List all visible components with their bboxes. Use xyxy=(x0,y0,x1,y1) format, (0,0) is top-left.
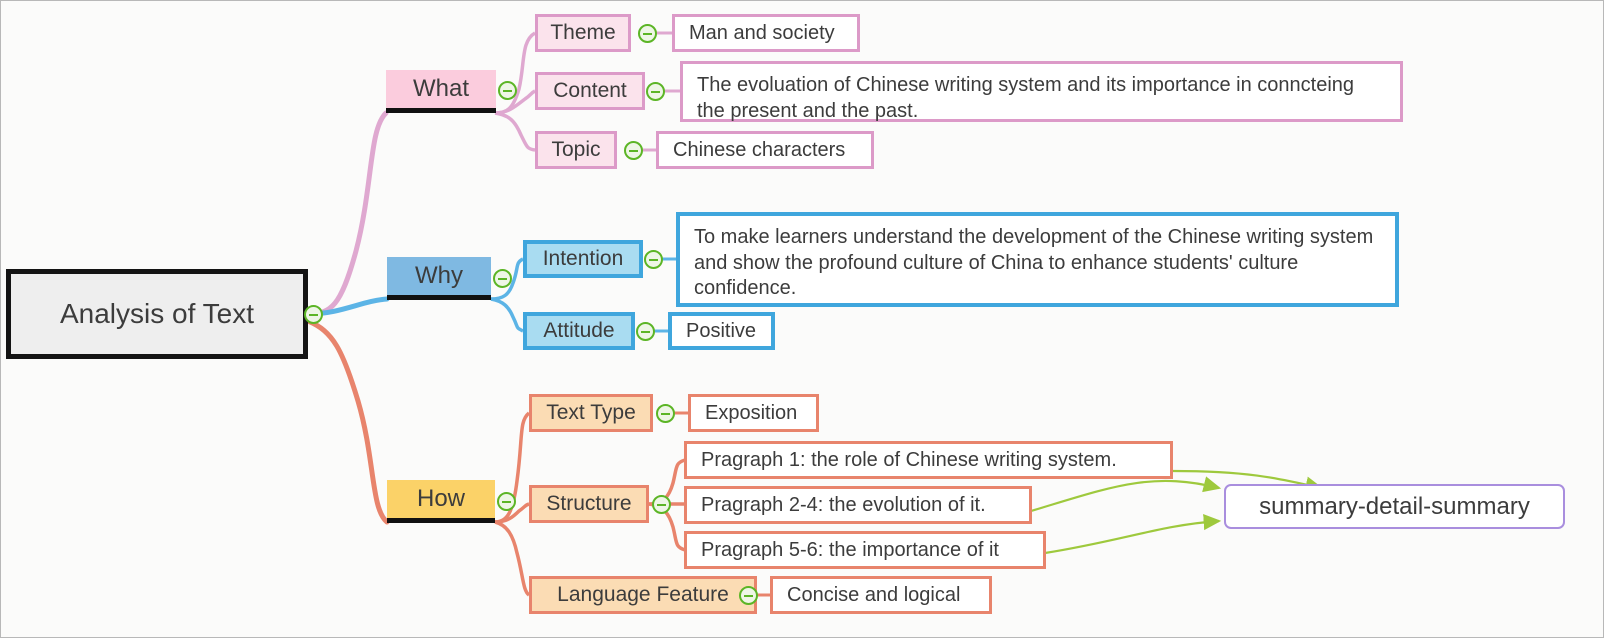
leaf-paragraph-2[interactable]: Pragraph 2-4: the evolution of it. xyxy=(684,486,1032,524)
leaf-paragraph-3-label: Pragraph 5-6: the importance of it xyxy=(701,539,999,562)
toggle-content[interactable] xyxy=(646,82,665,101)
leaf-language-feature-value[interactable]: Concise and logical xyxy=(770,576,992,614)
sub-label-theme: Theme xyxy=(550,21,615,45)
leaf-paragraph-2-label: Pragraph 2-4: the evolution of it. xyxy=(701,494,986,517)
edge-root-what xyxy=(308,113,386,314)
leaf-text-type-label: Exposition xyxy=(705,402,797,425)
leaf-theme-value[interactable]: Man and society xyxy=(672,14,860,52)
sub-label-text-type: Text Type xyxy=(546,401,636,425)
sub-node-content[interactable]: Content xyxy=(535,72,645,110)
arrow-p3-summary xyxy=(1045,521,1219,553)
branch-node-what[interactable]: What xyxy=(386,70,496,113)
leaf-content-label: The evoluation of Chinese writing system… xyxy=(697,74,1354,122)
edge-why-attitude xyxy=(491,299,523,331)
sub-node-theme[interactable]: Theme xyxy=(535,14,631,52)
sub-node-intention[interactable]: Intention xyxy=(523,240,643,278)
leaf-theme-label: Man and society xyxy=(689,22,835,45)
leaf-topic-value[interactable]: Chinese characters xyxy=(656,131,874,169)
leaf-intention-value[interactable]: To make learners understand the developm… xyxy=(676,212,1399,307)
sub-label-structure: Structure xyxy=(546,492,631,516)
toggle-attitude[interactable] xyxy=(636,322,655,341)
mindmap-canvas: Analysis of Text What Theme Man and soci… xyxy=(0,0,1604,638)
sub-node-language-feature[interactable]: Language Feature xyxy=(529,576,757,614)
leaf-paragraph-1-label: Pragraph 1: the role of Chinese writing … xyxy=(701,449,1117,472)
toggle-theme[interactable] xyxy=(638,24,657,43)
arrow-p2-summary xyxy=(1031,481,1219,511)
branch-label-what: What xyxy=(413,75,469,103)
edge-how-language xyxy=(495,522,529,595)
branch-label-why: Why xyxy=(415,262,463,290)
sub-label-content: Content xyxy=(553,79,627,103)
root-node-label: Analysis of Text xyxy=(60,298,254,330)
edge-root-how xyxy=(308,321,387,522)
toggle-intention[interactable] xyxy=(644,250,663,269)
leaf-paragraph-3[interactable]: Pragraph 5-6: the importance of it xyxy=(684,531,1046,569)
summary-node-label: summary-detail-summary xyxy=(1259,493,1530,521)
toggle-how[interactable] xyxy=(497,492,516,511)
sub-label-intention: Intention xyxy=(543,247,624,271)
sub-label-language-feature: Language Feature xyxy=(557,583,729,607)
toggle-language-feature[interactable] xyxy=(739,586,758,605)
leaf-content-value[interactable]: The evoluation of Chinese writing system… xyxy=(680,61,1403,122)
sub-node-structure[interactable]: Structure xyxy=(529,485,649,523)
leaf-attitude-label: Positive xyxy=(686,320,756,343)
edge-what-theme xyxy=(495,33,535,113)
branch-label-how: How xyxy=(417,485,465,513)
sub-node-topic[interactable]: Topic xyxy=(535,131,617,169)
toggle-what[interactable] xyxy=(498,81,517,100)
leaf-language-feature-label: Concise and logical xyxy=(787,584,960,607)
leaf-attitude-value[interactable]: Positive xyxy=(668,312,775,350)
leaf-topic-label: Chinese characters xyxy=(673,139,845,162)
sub-label-attitude: Attitude xyxy=(543,319,614,343)
toggle-why[interactable] xyxy=(493,269,512,288)
summary-node[interactable]: summary-detail-summary xyxy=(1224,484,1565,529)
leaf-text-type-value[interactable]: Exposition xyxy=(688,394,819,432)
branch-node-why[interactable]: Why xyxy=(387,257,491,300)
sub-label-topic: Topic xyxy=(551,138,600,162)
branch-node-how[interactable]: How xyxy=(387,480,495,523)
root-node[interactable]: Analysis of Text xyxy=(6,269,308,359)
leaf-paragraph-1[interactable]: Pragraph 1: the role of Chinese writing … xyxy=(684,441,1173,479)
leaf-intention-label: To make learners understand the developm… xyxy=(694,226,1373,299)
toggle-text-type[interactable] xyxy=(656,404,675,423)
toggle-topic[interactable] xyxy=(624,141,643,160)
edge-what-topic xyxy=(495,113,535,150)
sub-node-attitude[interactable]: Attitude xyxy=(523,312,635,350)
sub-node-text-type[interactable]: Text Type xyxy=(529,394,653,432)
toggle-root[interactable] xyxy=(304,305,323,324)
toggle-structure[interactable] xyxy=(652,495,671,514)
